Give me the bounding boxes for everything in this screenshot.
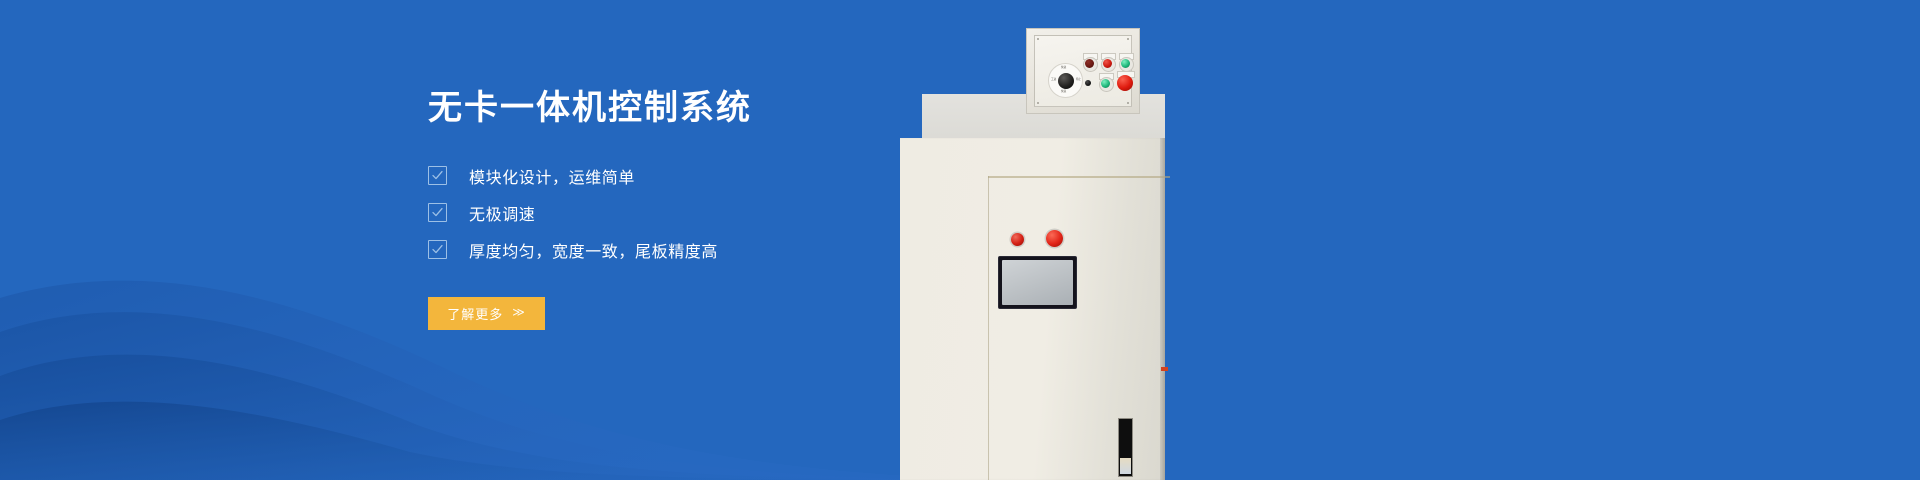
page-title: 无卡一体机控制系统 — [428, 88, 948, 129]
feature-label: 无极调速 — [469, 201, 535, 225]
selector-tick-label: 快进 — [1061, 67, 1066, 70]
control-panel-face: 快进 工进 停止 快退 — [1034, 35, 1132, 107]
cabinet-button-red-small[interactable] — [1011, 233, 1024, 246]
chevron-right-icon: ≫ — [512, 305, 526, 319]
hero-banner: 无卡一体机控制系统 模块化设计，运维简单 无极调速 — [0, 0, 1920, 480]
screw-icon — [1127, 102, 1129, 104]
feature-label: 厚度均匀，宽度一致，尾板精度高 — [469, 238, 718, 262]
selector-tick-label: 停止 — [1076, 79, 1081, 82]
screw-icon — [1037, 102, 1039, 104]
product-photo: 无卡一体机控制柜 快进 工进 停止 快退 — [900, 0, 1420, 480]
selector-tick-label: 快退 — [1061, 91, 1066, 94]
check-square-icon — [428, 166, 447, 185]
hmi-touchscreen[interactable] — [998, 256, 1077, 309]
button-red[interactable] — [1103, 59, 1112, 68]
list-item: 无极调速 — [428, 202, 948, 224]
hero-content: 无卡一体机控制系统 模块化设计，运维简单 无极调速 — [428, 88, 948, 330]
learn-more-label: 了解更多 — [447, 304, 503, 323]
screw-icon — [1037, 38, 1039, 40]
product-photo-alt: 无卡一体机控制柜 — [900, 0, 901, 1]
slot-label-strip — [1120, 458, 1131, 474]
hmi-screen-surface[interactable] — [1002, 260, 1073, 305]
list-item: 厚度均匀，宽度一致，尾板精度高 — [428, 239, 948, 261]
check-square-icon — [428, 240, 447, 259]
emergency-stop-button[interactable] — [1117, 75, 1133, 91]
indicator-red-dark[interactable] — [1085, 59, 1094, 68]
check-square-icon — [428, 203, 447, 222]
list-item: 模块化设计，运维简单 — [428, 165, 948, 187]
cabinet-button-red-large[interactable] — [1046, 230, 1063, 247]
feature-label: 模块化设计，运维简单 — [469, 164, 635, 188]
cabinet-lock-slot[interactable] — [1118, 418, 1133, 477]
feature-list: 模块化设计，运维简单 无极调速 厚度均匀，宽度一致，尾板精度高 — [428, 165, 948, 261]
button-black-small[interactable] — [1085, 80, 1091, 86]
learn-more-button[interactable]: 了解更多 ≫ — [428, 297, 545, 330]
button-green-start[interactable] — [1101, 79, 1110, 88]
selector-tick-label: 工进 — [1051, 79, 1056, 82]
door-seam — [988, 176, 1170, 178]
selector-knob[interactable] — [1058, 73, 1074, 89]
door-seam — [988, 176, 989, 480]
button-green[interactable] — [1121, 59, 1130, 68]
rotary-selector-switch[interactable]: 快进 工进 停止 快退 — [1048, 63, 1083, 98]
screw-icon — [1127, 38, 1129, 40]
control-panel: 快进 工进 停止 快退 — [1026, 28, 1140, 114]
edge-indicator-light — [1161, 367, 1168, 371]
